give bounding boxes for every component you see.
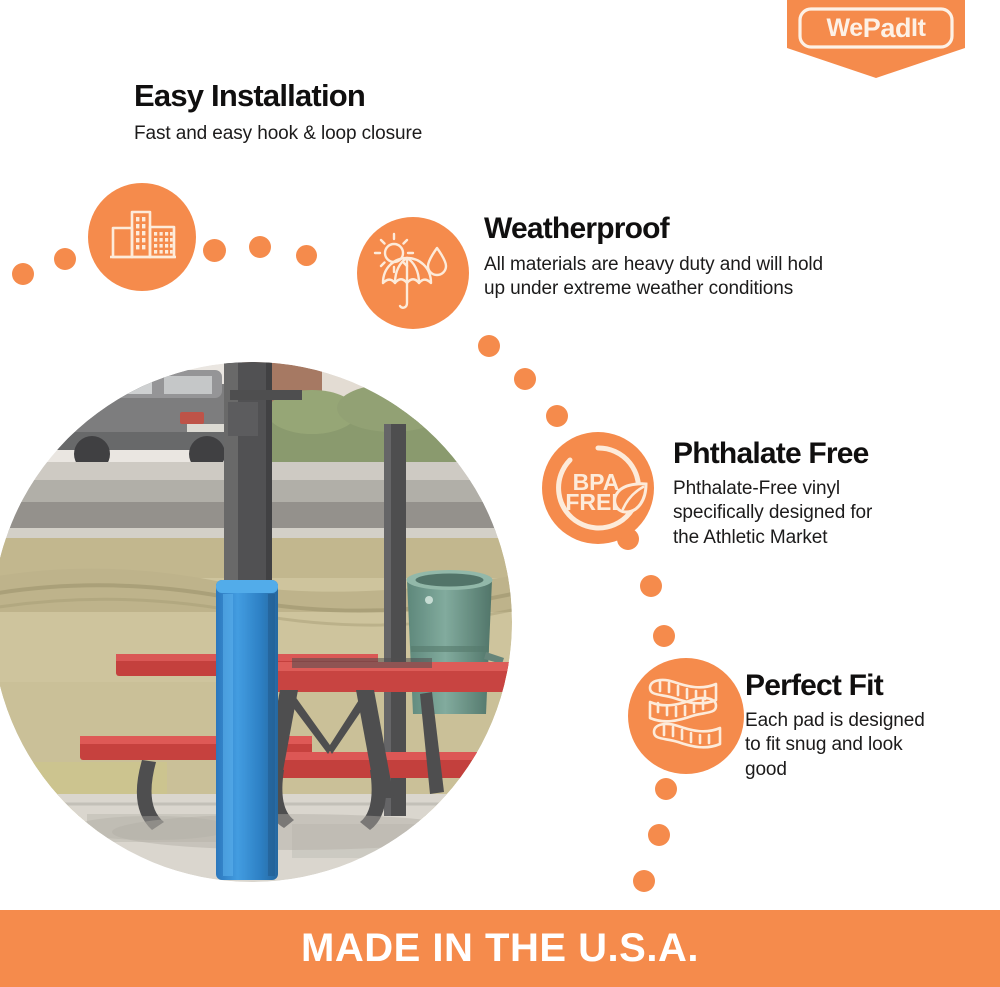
path-dot bbox=[655, 778, 677, 800]
building-icon-glyph bbox=[88, 183, 196, 291]
weatherproof-icon-glyph bbox=[357, 217, 469, 329]
product-photo bbox=[0, 362, 512, 882]
path-dot bbox=[640, 575, 662, 597]
feature-description-line2: up under extreme weather conditions bbox=[484, 277, 904, 302]
feature-description-line1: Phthalate-Free vinyl bbox=[673, 477, 973, 502]
measuring-tape-icon bbox=[628, 658, 744, 774]
bpa-free-icon-glyph: BPA FREE bbox=[542, 432, 654, 544]
feature-title: Easy Installation bbox=[134, 80, 554, 113]
feature-weatherproof: Weatherproof All materials are heavy dut… bbox=[484, 213, 904, 302]
feature-description-line1: Each pad is designed bbox=[745, 709, 985, 734]
feature-description-line1: All materials are heavy duty and will ho… bbox=[484, 253, 904, 278]
feature-description-line3: good bbox=[745, 758, 985, 783]
path-dot bbox=[648, 824, 670, 846]
building-icon bbox=[88, 183, 196, 291]
brand-logo: WePadIt bbox=[787, 0, 965, 78]
made-in-usa-banner: MADE IN THE U.S.A. bbox=[0, 910, 1000, 987]
bpa-free-leaf-icon: BPA FREE bbox=[542, 432, 654, 544]
path-dot bbox=[296, 245, 317, 266]
feature-description-line2: specifically designed for bbox=[673, 501, 973, 526]
path-dot bbox=[546, 405, 568, 427]
logo-shield-shape bbox=[787, 0, 965, 78]
path-dot bbox=[633, 870, 655, 892]
feature-title: Perfect Fit bbox=[745, 670, 985, 702]
path-dot bbox=[653, 625, 675, 647]
product-photo-illustration bbox=[0, 362, 512, 882]
feature-description: Fast and easy hook & loop closure bbox=[134, 122, 554, 147]
path-dot bbox=[514, 368, 536, 390]
path-dot bbox=[12, 263, 34, 285]
feature-easy-installation: Easy Installation Fast and easy hook & l… bbox=[134, 80, 554, 146]
feature-description-line2: to fit snug and look bbox=[745, 733, 985, 758]
sun-umbrella-raindrop-icon bbox=[357, 217, 469, 329]
feature-perfect-fit: Perfect Fit Each pad is designed to fit … bbox=[745, 670, 985, 783]
measuring-tape-icon-glyph bbox=[628, 658, 744, 774]
made-in-usa-text: MADE IN THE U.S.A. bbox=[301, 926, 699, 971]
feature-description-line3: the Athletic Market bbox=[673, 526, 973, 551]
path-dot bbox=[478, 335, 500, 357]
feature-phthalate-free: Phthalate Free Phthalate-Free vinyl spec… bbox=[673, 438, 973, 551]
path-dot bbox=[249, 236, 271, 258]
feature-title: Weatherproof bbox=[484, 213, 904, 245]
path-dot bbox=[203, 239, 226, 262]
feature-title: Phthalate Free bbox=[673, 438, 973, 470]
path-dot bbox=[54, 248, 76, 270]
infographic-canvas: WePadIt Easy Installation Fast and easy … bbox=[0, 0, 1000, 987]
